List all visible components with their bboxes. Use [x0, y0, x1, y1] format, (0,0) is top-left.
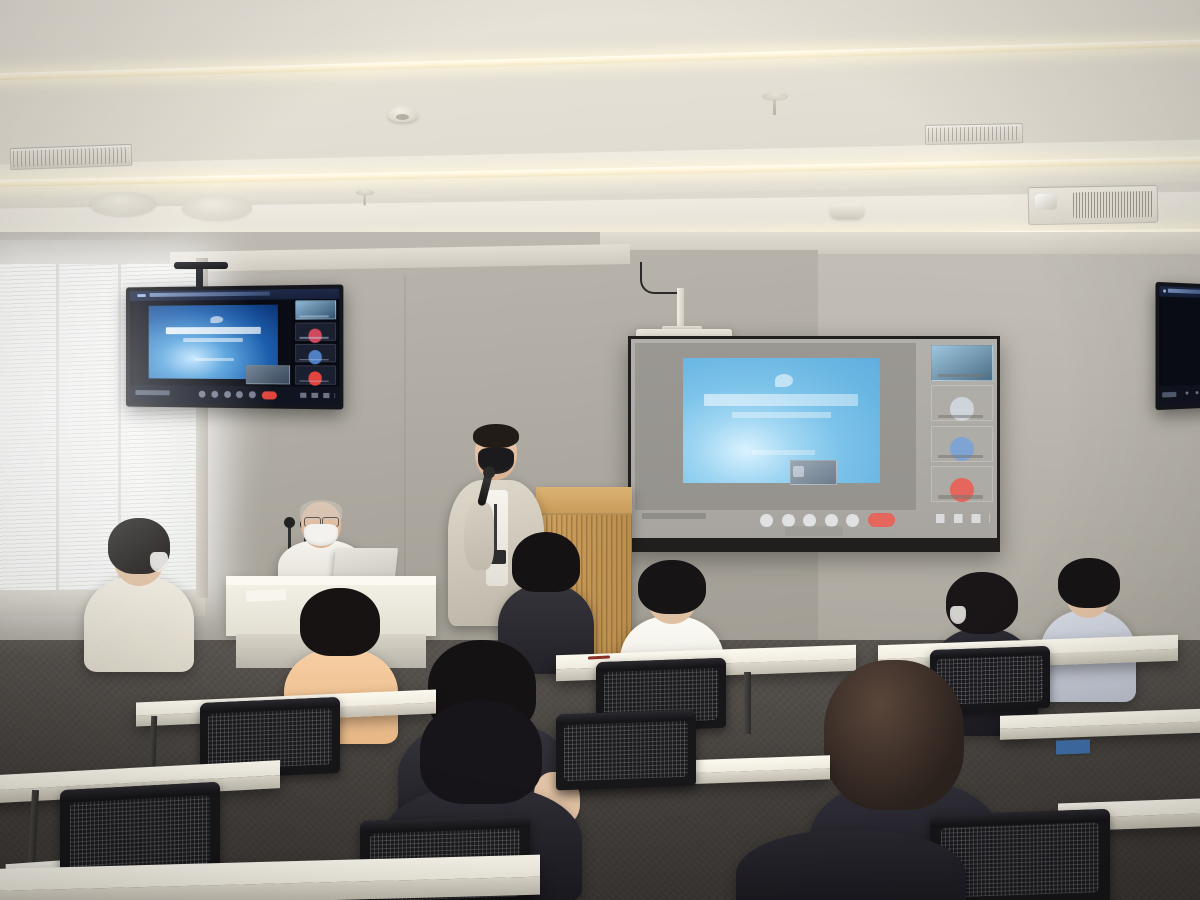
- slide-subtitle-text: [183, 338, 243, 342]
- leave-meeting-button[interactable]: [262, 391, 277, 399]
- air-vent-icon: [925, 123, 1023, 145]
- more-options-icon[interactable]: [249, 391, 256, 398]
- right-wall-monitor[interactable]: [1155, 282, 1200, 410]
- participant-rail[interactable]: [295, 300, 336, 384]
- participant-tile[interactable]: [295, 365, 336, 384]
- monitor-mount-arm: [174, 262, 228, 269]
- audience-person: [1040, 558, 1136, 698]
- projected-participant-rail: [931, 345, 993, 502]
- video-icon[interactable]: [211, 391, 218, 398]
- participant-tile[interactable]: [295, 344, 336, 363]
- mic-icon[interactable]: [1185, 391, 1188, 394]
- face-mask-icon: [150, 552, 168, 572]
- presenter-arm: [464, 502, 494, 570]
- desk-leg: [744, 672, 751, 734]
- projected-slide-title: [704, 394, 858, 405]
- projected-slide-subtitle: [732, 412, 831, 418]
- layout-controls[interactable]: [300, 392, 335, 398]
- lecture-hall-photo: [0, 0, 1200, 900]
- projected-slide: [683, 358, 880, 483]
- smoke-detector-icon: [388, 106, 418, 122]
- participant-tile: [931, 466, 993, 502]
- university-logo-icon: [210, 316, 223, 323]
- share-screen-icon[interactable]: [236, 391, 243, 398]
- ceiling-speaker-icon: [830, 203, 864, 218]
- left-wall-monitor[interactable]: [126, 284, 343, 409]
- audience-person: [736, 830, 966, 900]
- leave-meeting-button: [868, 513, 895, 527]
- university-logo-icon: [775, 374, 793, 387]
- sprinkler-head-icon: [356, 189, 374, 195]
- led-strip-1: [0, 37, 1200, 83]
- lanyard: [494, 504, 497, 552]
- projected-shared-screen: [635, 343, 917, 510]
- self-view-thumbnail[interactable]: [246, 365, 290, 385]
- participants-icon[interactable]: [224, 391, 231, 398]
- shared-screen-area: [134, 300, 292, 387]
- audience-person: [84, 518, 194, 668]
- recessed-light-icon: [90, 192, 156, 216]
- projected-self-view: [790, 460, 837, 485]
- projected-share-status: [642, 513, 707, 519]
- sprinkler-head-icon: [762, 92, 788, 101]
- presenter-hair: [473, 424, 519, 448]
- blue-booklet: [1056, 739, 1090, 754]
- more-options-icon: [846, 514, 859, 527]
- papers: [246, 589, 286, 601]
- face-mask-icon: [950, 606, 966, 624]
- recessed-light-icon: [182, 196, 252, 220]
- meeting-toolbar[interactable]: [130, 385, 340, 406]
- video-icon[interactable]: [1195, 391, 1198, 394]
- monitor-mount: [196, 268, 203, 290]
- participant-tile[interactable]: [295, 300, 336, 319]
- participant-tile: [931, 426, 993, 462]
- participant-tile[interactable]: [295, 322, 336, 341]
- layout-controls: [936, 514, 990, 522]
- face-mask-icon: [304, 524, 338, 546]
- projection-surface: [631, 339, 997, 538]
- projected-slide-footer: [752, 450, 815, 455]
- air-vent-icon: [10, 144, 133, 170]
- share-status-label: [136, 390, 170, 396]
- mic-icon: [760, 514, 773, 527]
- wall-seam: [404, 276, 406, 616]
- slide-footer-text: [195, 358, 234, 361]
- ac-unit: [1028, 185, 1159, 225]
- watermark: [785, 526, 844, 536]
- participant-tile: [931, 385, 993, 421]
- projection-screen: [628, 336, 1000, 552]
- participant-tile: [931, 345, 993, 381]
- mic-icon[interactable]: [199, 391, 206, 398]
- slide-title-text: [165, 327, 261, 334]
